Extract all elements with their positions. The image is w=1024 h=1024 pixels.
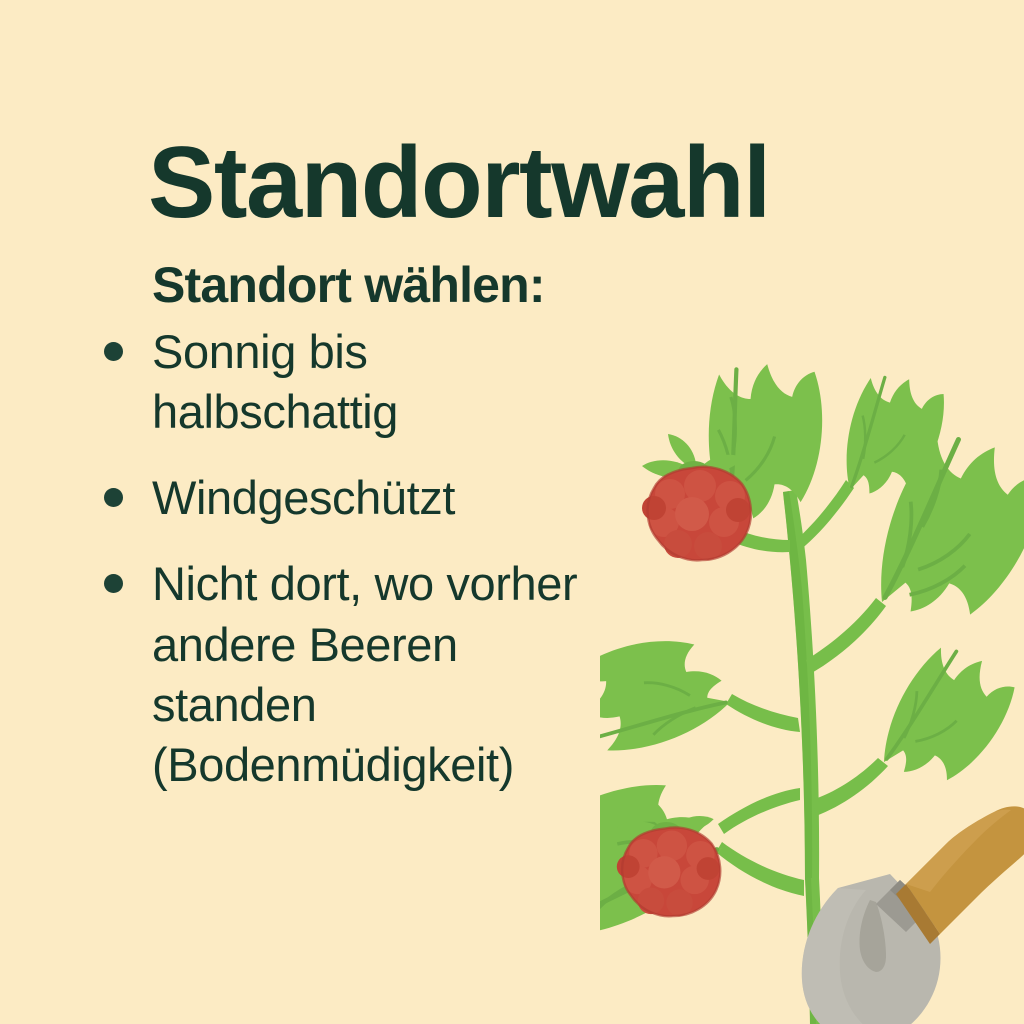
leaf-mid-left xyxy=(600,610,744,784)
branch-lower-left-leaf xyxy=(716,842,804,896)
berry-lower-stalk xyxy=(718,788,800,834)
list-item: Windgeschützt xyxy=(96,468,616,528)
branch-lower-right xyxy=(812,758,888,816)
bullet-list: Sonnig bis halbschattig Windgeschützt Ni… xyxy=(96,322,616,821)
text-column: Standortwahl Standort wählen: Sonnig bis… xyxy=(0,0,640,1024)
list-item: Sonnig bis halbschattig xyxy=(96,322,616,442)
branch-mid-left xyxy=(726,694,800,732)
section-subtitle: Standort wählen: xyxy=(152,258,545,313)
branch-mid-right xyxy=(806,598,886,674)
garden-trowel xyxy=(802,806,1024,1024)
bullet-dot-icon xyxy=(104,342,123,361)
infographic-card: Standortwahl Standort wählen: Sonnig bis… xyxy=(0,0,1024,1024)
list-item: Nicht dort, wo vorher andere Beeren stan… xyxy=(96,554,616,795)
bullet-dot-icon xyxy=(104,488,123,507)
list-item-label: Nicht dort, wo vorher andere Beeren stan… xyxy=(152,554,616,795)
raspberry-plant-illustration xyxy=(600,240,1024,1024)
bullet-dot-icon xyxy=(104,574,123,593)
list-item-label: Sonnig bis halbschattig xyxy=(152,322,616,442)
page-title: Standortwahl xyxy=(148,130,770,236)
list-item-label: Windgeschützt xyxy=(152,468,616,528)
berry-body xyxy=(642,467,751,561)
